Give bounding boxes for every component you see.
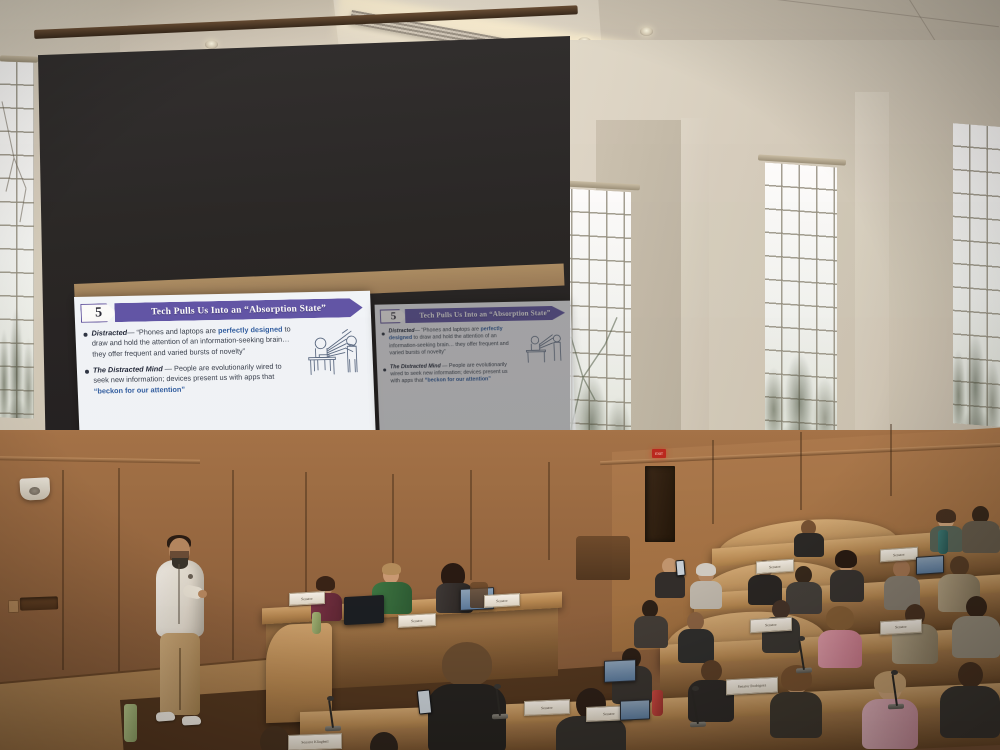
wall-plate bbox=[8, 600, 19, 613]
microphone-head bbox=[327, 696, 334, 701]
nameplate: Senator bbox=[880, 547, 918, 563]
bullet-lead: The Distracted Mind bbox=[93, 364, 163, 374]
audience-person bbox=[862, 676, 918, 746]
bullet-highlight: perfectly designed bbox=[218, 325, 283, 335]
phone-screen bbox=[418, 690, 431, 713]
nameplate-label: Senator bbox=[769, 564, 781, 569]
nameplate-label: Senator Klingbeil bbox=[301, 740, 328, 745]
slide-bullet-item: The Distracted Mind — People are evoluti… bbox=[85, 361, 298, 396]
bullet-text-before: “Phones and laptops are bbox=[421, 326, 480, 333]
wainscot-panel-seam bbox=[712, 440, 714, 524]
window-edge-right bbox=[953, 123, 1000, 427]
bullet-lead: The Distracted Mind bbox=[390, 363, 441, 370]
audience-person bbox=[352, 732, 416, 750]
slide-bullet-item: Distracted— “Phones and laptops are perf… bbox=[83, 324, 296, 359]
nameplate-label: Senator bbox=[603, 711, 615, 715]
slide-header-banner: 5 Tech Pulls Us Into an “Absorption Stat… bbox=[80, 298, 363, 323]
wall-pilaster bbox=[681, 118, 709, 466]
water-bottle bbox=[124, 704, 137, 742]
nameplate: Senator bbox=[750, 617, 792, 633]
wainscot-panel-seam bbox=[62, 470, 64, 670]
person-torso bbox=[770, 692, 822, 738]
slide-body-secondary: Distracted— “Phones and laptops are perf… bbox=[375, 323, 574, 396]
person-torso bbox=[962, 521, 1000, 553]
audience-laptop bbox=[620, 699, 650, 720]
bullet-dash: — bbox=[441, 363, 449, 369]
bullet-text: Distracted— “Phones and laptops are perf… bbox=[389, 326, 517, 358]
smartphone bbox=[417, 689, 432, 714]
laptop-screen bbox=[917, 556, 943, 574]
wainscot-panel-seam bbox=[232, 470, 234, 660]
microphone-head bbox=[798, 636, 805, 641]
person-hair bbox=[874, 671, 906, 693]
slide-title: Tech Pulls Us Into an “Absorption State” bbox=[151, 303, 326, 317]
presenter-zipper bbox=[178, 564, 180, 624]
nameplate: Senator bbox=[880, 619, 922, 635]
person-head bbox=[370, 732, 398, 750]
projection-screen-assembly: 5 Tech Pulls Us Into an “Absorption Stat… bbox=[18, 20, 578, 500]
person-head bbox=[950, 556, 969, 576]
presenter-shoe bbox=[182, 716, 201, 726]
wainscot-panel-seam bbox=[305, 472, 307, 592]
wall-mounted-speaker bbox=[19, 477, 50, 501]
bullet-dot-icon bbox=[83, 333, 87, 337]
presenter-logo bbox=[188, 574, 193, 579]
slide-illustration bbox=[299, 323, 366, 398]
audience-person bbox=[428, 650, 506, 750]
person-hair bbox=[936, 509, 956, 523]
person-torso bbox=[940, 686, 1000, 738]
slide-bullet-list-secondary: Distracted— “Phones and laptops are perf… bbox=[382, 326, 519, 393]
nameplate-label: Senator bbox=[765, 623, 777, 628]
microphone-head bbox=[692, 686, 699, 691]
person-hair bbox=[442, 642, 492, 686]
nameplate: Senator bbox=[756, 559, 794, 575]
nameplate-label: Senator Rodriguez bbox=[738, 683, 767, 688]
exit-doorway bbox=[645, 466, 675, 542]
microphone-head bbox=[494, 684, 501, 689]
bullet-dash: — bbox=[127, 328, 137, 337]
person-torso bbox=[830, 570, 864, 602]
wall-pilaster bbox=[855, 92, 889, 464]
slide-title-chevron: Tech Pulls Us Into an “Absorption State” bbox=[114, 298, 363, 322]
water-bottle bbox=[652, 690, 663, 716]
person-hair bbox=[696, 563, 716, 576]
audience-person bbox=[690, 566, 722, 604]
slide-bullet-list: Distracted— “Phones and laptops are perf… bbox=[83, 324, 298, 403]
nameplate-label: Senator bbox=[301, 596, 313, 601]
presenter-leg-split bbox=[179, 648, 181, 710]
slide-bullet-item: The Distracted Mind — People are evoluti… bbox=[383, 361, 518, 386]
nameplate: Senator bbox=[398, 613, 436, 628]
slide-body: Distracted— “Phones and laptops are perf… bbox=[75, 321, 374, 407]
audience-person bbox=[884, 560, 920, 604]
panelist-hair bbox=[382, 563, 401, 575]
lecture-hall-photo: 5 Tech Pulls Us Into an “Absorption Stat… bbox=[0, 0, 1000, 750]
presenter-collar bbox=[172, 558, 188, 569]
bullet-lead: Distracted bbox=[389, 328, 415, 335]
bullet-text: The Distracted Mind — People are evoluti… bbox=[93, 361, 298, 396]
wainscot-panel-seam bbox=[800, 432, 802, 510]
presenter-hand bbox=[198, 590, 207, 598]
person-head bbox=[958, 662, 983, 688]
person-torso bbox=[690, 581, 722, 609]
nameplate-label: Senator bbox=[496, 598, 508, 603]
bullet-text: Distracted— “Phones and laptops are perf… bbox=[91, 324, 296, 359]
bullet-lead: Distracted bbox=[91, 328, 127, 338]
nameplate: Senator Rodriguez bbox=[726, 677, 778, 696]
nameplate-label: Senator bbox=[893, 552, 905, 557]
audience-person bbox=[962, 506, 1000, 550]
person-head bbox=[260, 726, 290, 750]
wainscot-panel-seam bbox=[548, 462, 550, 560]
trees-outside bbox=[953, 291, 1000, 427]
nameplate: Senator bbox=[524, 699, 570, 716]
person-torso bbox=[678, 629, 714, 663]
person-hair bbox=[826, 606, 854, 630]
person-torso bbox=[634, 616, 668, 648]
smartphone bbox=[675, 560, 685, 577]
bullet-dot-icon bbox=[382, 332, 385, 335]
audience-person bbox=[818, 610, 862, 664]
bullet-dot-icon bbox=[85, 370, 89, 374]
wall-vent bbox=[20, 596, 58, 610]
exit-sign-label: EXIT bbox=[655, 451, 663, 456]
trees-outside bbox=[765, 315, 837, 440]
person-at-desk-with-light-rays-icon bbox=[300, 327, 364, 382]
nameplate-label: Senator bbox=[895, 625, 907, 630]
wainscot-panel-seam bbox=[118, 468, 120, 683]
bullet-dot-icon bbox=[383, 368, 386, 371]
bullet-highlight: “beckon for our attention” bbox=[425, 377, 491, 384]
slide-title-secondary: Tech Pulls Us Into an “Absorption State” bbox=[419, 309, 550, 320]
slide-illustration-secondary bbox=[520, 325, 569, 390]
nameplate: Senator bbox=[289, 591, 325, 606]
nameplate: Senator Klingbeil bbox=[288, 733, 342, 750]
nameplate: Senator bbox=[484, 593, 520, 608]
audience-person bbox=[952, 596, 1000, 654]
slide-panel-secondary: 5 Tech Pulls Us Into an “Absorption Stat… bbox=[375, 301, 576, 440]
presenter-shoe bbox=[156, 711, 176, 721]
audience-person bbox=[794, 520, 824, 552]
person-torso bbox=[818, 630, 862, 668]
audience-person bbox=[678, 612, 714, 658]
downlight-icon bbox=[640, 27, 653, 36]
person-head bbox=[966, 596, 987, 618]
audience-laptop bbox=[916, 555, 944, 575]
slide-title-chevron-secondary: Tech Pulls Us Into an “Absorption State” bbox=[405, 306, 566, 323]
slide-header-banner-secondary: 5 Tech Pulls Us Into an “Absorption Stat… bbox=[380, 306, 566, 324]
window-far-right bbox=[765, 162, 837, 439]
laptop-screen bbox=[621, 700, 649, 719]
person-torso bbox=[952, 616, 1000, 658]
laptop-screen bbox=[605, 660, 635, 682]
audience-person bbox=[940, 662, 1000, 736]
bullet-dash: — bbox=[163, 364, 175, 373]
wainscot-panel-seam bbox=[470, 470, 472, 580]
nameplate-label: Senator bbox=[541, 705, 553, 709]
audience-person bbox=[830, 554, 864, 596]
person-at-desk-with-light-rays-icon bbox=[521, 329, 567, 368]
person-hair bbox=[835, 550, 857, 568]
water-bottle bbox=[312, 612, 321, 634]
front-desk-monitor bbox=[344, 595, 384, 625]
person-torso bbox=[794, 533, 824, 557]
bullet-text: The Distracted Mind — People are evoluti… bbox=[390, 361, 518, 386]
slide-number-badge-secondary: 5 bbox=[380, 309, 408, 324]
phone-screen bbox=[676, 561, 684, 576]
exit-sign: EXIT bbox=[652, 449, 666, 458]
slide-number-badge: 5 bbox=[80, 303, 117, 323]
stacked-chairs bbox=[576, 536, 630, 580]
person-head bbox=[701, 660, 722, 682]
front-table-left-wing bbox=[266, 623, 332, 723]
audience-person bbox=[634, 600, 668, 642]
presenter bbox=[152, 538, 208, 730]
audience-laptop bbox=[604, 659, 636, 683]
slide-bullet-item: Distracted— “Phones and laptops are perf… bbox=[382, 326, 517, 358]
microphone-head bbox=[891, 670, 898, 675]
nameplate-label: Senator bbox=[411, 618, 423, 623]
bullet-text-before: “Phones and laptops are bbox=[136, 326, 218, 337]
wainscot-panel-seam bbox=[890, 424, 892, 496]
water-bottle bbox=[938, 530, 948, 554]
panelist-hair bbox=[316, 576, 335, 591]
bullet-highlight: “beckon for our attention” bbox=[94, 384, 186, 395]
